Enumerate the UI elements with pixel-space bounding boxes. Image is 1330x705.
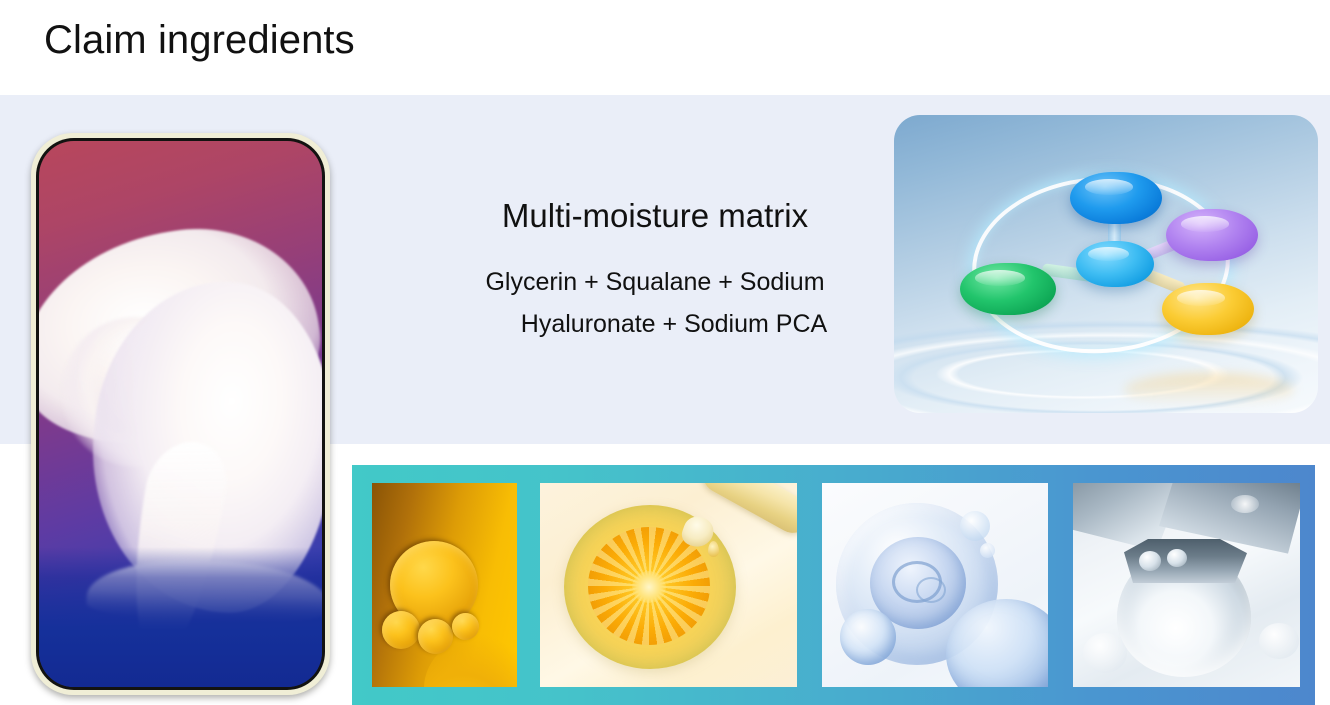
citrus-dropper-thumbnail	[540, 483, 797, 687]
citrus-core	[632, 571, 666, 603]
oil-bubbles-thumbnail	[372, 483, 517, 687]
phone-frame	[36, 138, 325, 690]
thumbnail-strip	[352, 465, 1315, 705]
molecule-reflection	[1124, 373, 1294, 407]
molecule-node-purple	[1166, 209, 1258, 261]
molecule-node-cyan	[1076, 241, 1154, 287]
water-highlight-1	[1231, 495, 1259, 513]
water-bubble-1	[1139, 551, 1161, 571]
gel-bubble-small	[840, 609, 896, 665]
product-texture-phone	[31, 133, 330, 695]
phone-screen-blue-base	[39, 547, 322, 687]
molecule-node-green	[960, 263, 1056, 315]
multi-moisture-molecule-card	[894, 115, 1318, 413]
page-title: Claim ingredients	[44, 16, 355, 64]
oil-bubble-small-1	[382, 611, 420, 649]
water-droplet-thumbnail	[1073, 483, 1300, 687]
water-bubble-2	[1167, 549, 1187, 567]
center-text-block: Multi-moisture matrix Glycerin + Squalan…	[420, 195, 890, 345]
matrix-heading: Multi-moisture matrix	[420, 195, 890, 236]
molecule-node-yellow	[1162, 283, 1254, 335]
gel-swirl-2	[916, 577, 946, 603]
dropper-droplet	[708, 541, 719, 557]
ingredients-list: Glycerin + Squalane + Sodium Hyaluronate…	[420, 262, 890, 345]
gel-bubble-tiny-2	[980, 543, 995, 558]
oil-bubble-small-2	[418, 619, 453, 654]
water-highlight-3	[1259, 623, 1299, 659]
gel-bubbles-thumbnail	[822, 483, 1048, 687]
gel-bubble-tiny-1	[960, 511, 990, 541]
oil-bubble-small-3	[452, 613, 479, 640]
ingredients-line-2: Hyaluronate + Sodium PCA	[420, 304, 890, 345]
molecule-node-blue	[1070, 172, 1162, 224]
phone-screen	[39, 141, 322, 687]
ingredients-line-1: Glycerin + Squalane + Sodium	[420, 262, 890, 303]
